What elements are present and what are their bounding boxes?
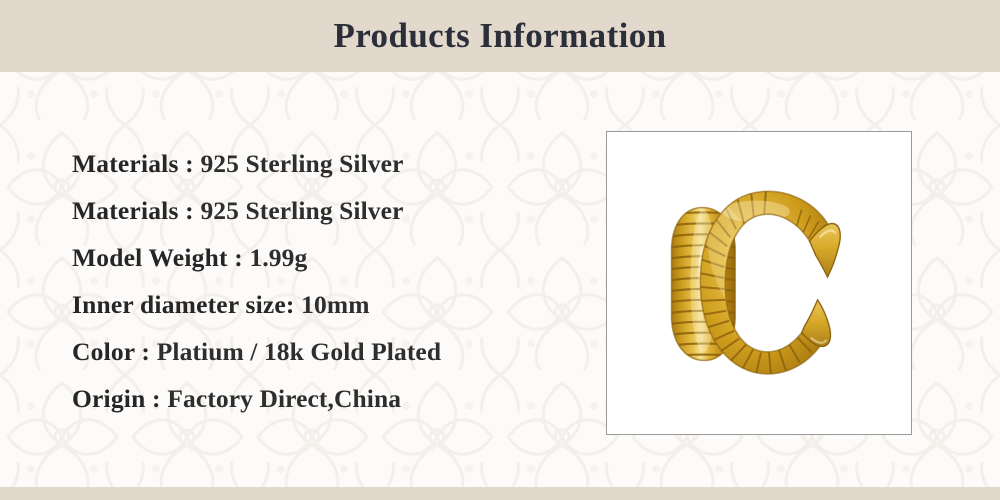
spec-label: Inner diameter size:	[72, 290, 295, 319]
product-image-frame: Two gold ribbed open rings on white back…	[606, 131, 912, 435]
specification-list: Materials : 925 Sterling Silver Material…	[72, 140, 572, 422]
spec-value: 925 Sterling Silver	[200, 196, 403, 225]
spec-separator: :	[179, 196, 201, 225]
spec-separator: :	[135, 337, 157, 366]
spec-value: 925 Sterling Silver	[200, 149, 403, 178]
spec-row-materials-1: Materials : 925 Sterling Silver	[72, 140, 572, 187]
spec-value: Factory Direct,China	[167, 384, 401, 413]
spec-value: 1.99g	[249, 243, 307, 272]
spec-row-origin: Origin : Factory Direct,China	[72, 375, 572, 422]
product-information-banner: Products Information Materials : 925 Ste…	[0, 0, 1000, 500]
spec-separator: :	[228, 243, 250, 272]
spec-separator: :	[179, 149, 201, 178]
spec-row-color: Color : Platium / 18k Gold Plated	[72, 328, 572, 375]
spec-value: 10mm	[301, 290, 369, 319]
spec-label: Origin	[72, 384, 145, 413]
product-photo: Two gold ribbed open rings on white back…	[607, 132, 911, 434]
footer-band	[0, 487, 1000, 500]
spec-row-inner-diameter: Inner diameter size: 10mm	[72, 281, 572, 328]
page-title: Products Information	[0, 10, 1000, 62]
spec-label: Model Weight	[72, 243, 228, 272]
spec-label: Color	[72, 337, 135, 366]
spec-label: Materials	[72, 149, 179, 178]
spec-value: Platium / 18k Gold Plated	[157, 337, 441, 366]
spec-separator: :	[145, 384, 167, 413]
spec-label: Materials	[72, 196, 179, 225]
spec-row-materials-2: Materials : 925 Sterling Silver	[72, 187, 572, 234]
header-band: Products Information	[0, 0, 1000, 72]
spec-row-model-weight: Model Weight : 1.99g	[72, 234, 572, 281]
